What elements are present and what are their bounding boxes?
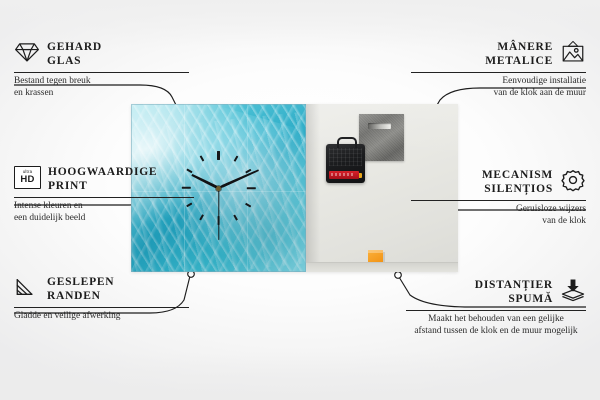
feature-subtitle: Intense kleuren en een duidelijk beeld [14, 201, 194, 224]
feature-hoogwaardige-print: ultra HD HOOGWAARDIGE PRINT Intense kleu… [14, 165, 194, 224]
feature-title: DISTANȚIER SPUMĂ [475, 278, 553, 306]
feature-subtitle: Gladde en veilige afwerking [14, 311, 189, 323]
feature-geslepen-randen: GESLEPEN RANDEN Gladde en veilige afwerk… [14, 275, 189, 323]
hanger-slot [368, 123, 391, 129]
feature-distantier-spuma: DISTANȚIER SPUMĂ Maakt het behouden van … [406, 278, 586, 337]
infographic-canvas: GEHARD GLAS Bestand tegen breuk en krass… [0, 0, 600, 400]
polished-edges-icon [14, 275, 40, 299]
feature-subtitle: Maakt het behouden van een gelijke afsta… [406, 314, 586, 337]
feature-subtitle: Bestand tegen breuk en krassen [14, 76, 189, 99]
feature-gehard-glas: GEHARD GLAS Bestand tegen breuk en krass… [14, 40, 189, 99]
metal-hanger-plate [359, 114, 404, 161]
feature-title: GEHARD GLAS [47, 40, 102, 68]
spacer-press-icon [560, 278, 586, 302]
connector-dot-distantier-spuma [395, 272, 402, 279]
feature-title: HOOGWAARDIGE PRINT [48, 165, 157, 193]
feature-title: MÂNERE METALICE [485, 40, 553, 68]
mechanism-hanging-loop [337, 137, 357, 148]
feature-subtitle: Eenvoudige installatie van de klok aan d… [411, 76, 586, 99]
feature-mecanism-silentios: MECANISM SILENȚIOS Geruisloze wijzers va… [411, 168, 586, 227]
framed-picture-hanging-icon [560, 40, 586, 64]
clock-mechanism-box [326, 144, 365, 183]
feature-subtitle: Geruisloze wijzers van de klok [411, 204, 586, 227]
feature-divider [14, 307, 189, 308]
gear-icon [560, 168, 586, 192]
feature-divider [406, 310, 586, 311]
battery [329, 171, 359, 179]
feature-divider [14, 197, 194, 198]
feature-title: GESLEPEN RANDEN [47, 275, 114, 303]
feature-manere-metalice: MÂNERE METALICE Eenvoudige installatie v… [411, 40, 586, 99]
feature-divider [411, 72, 586, 73]
feature-divider [411, 200, 586, 201]
feature-title: MECANISM SILENȚIOS [482, 168, 553, 196]
ultra-hd-badge-icon: ultra HD [14, 166, 41, 189]
badge-hd-label: HD [20, 175, 34, 185]
diamond-icon [14, 40, 40, 64]
feature-divider [14, 72, 189, 73]
